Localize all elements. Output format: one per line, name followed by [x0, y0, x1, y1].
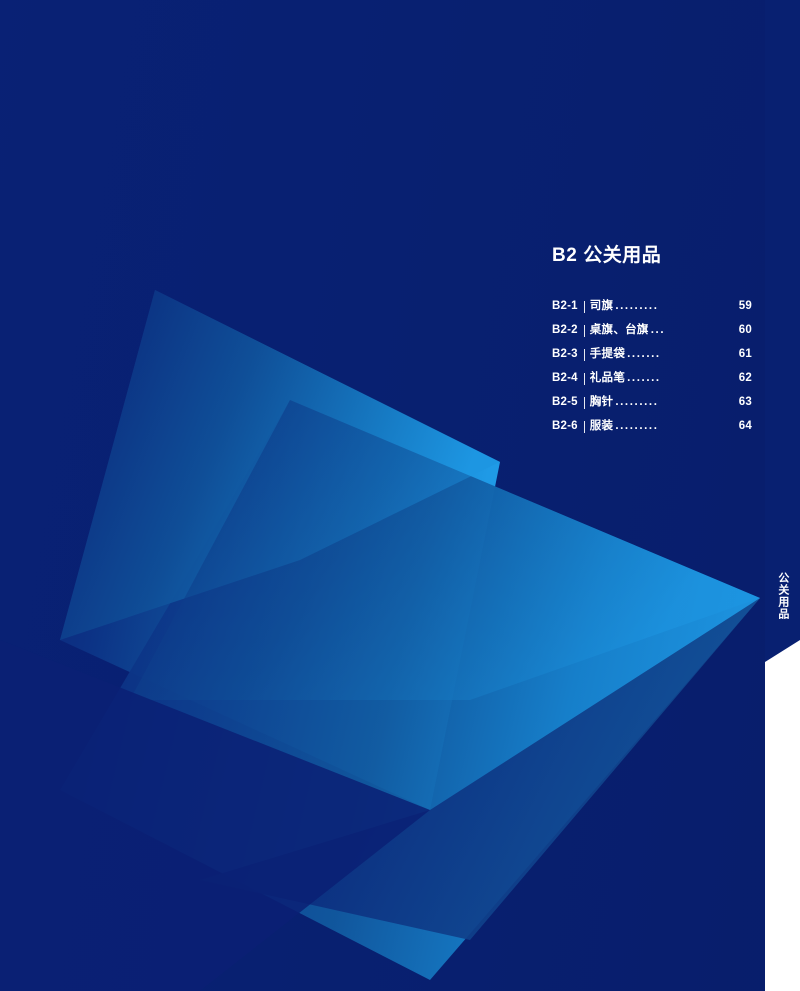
toc-leader-dots: ......... [615, 301, 736, 313]
toc-leader-dots: ......... [615, 397, 736, 409]
toc-leader-dots: ......... [615, 421, 736, 433]
toc-page-number: 62 [739, 373, 752, 385]
page-title-text: 公关用品 [583, 245, 661, 266]
toc-page-number: 63 [739, 397, 752, 409]
toc-page-number: 61 [739, 349, 752, 361]
toc-entry[interactable]: B2-2 桌旗、台旗 ... 60 [552, 325, 752, 337]
toc-code: B2-4 [552, 373, 578, 385]
toc-entry[interactable]: B2-5 胸针 ......... 63 [552, 397, 752, 409]
toc-page-number: 64 [739, 421, 752, 433]
toc-page-number: 60 [739, 325, 752, 337]
toc-title: 胸针 [590, 397, 614, 409]
toc-title: 服装 [590, 421, 614, 433]
chevron-gradient-graphic [0, 0, 800, 991]
toc-entry[interactable]: B2-6 服装 ......... 64 [552, 421, 752, 433]
toc-divider-rule [584, 421, 585, 433]
toc-entry[interactable]: B2-3 手提袋 ....... 61 [552, 349, 752, 361]
table-of-contents: B2-1 司旗 ......... 59 B2-2 桌旗、台旗 ... 60 B… [552, 301, 752, 433]
toc-leader-dots: ... [651, 325, 737, 337]
toc-entry[interactable]: B2-1 司旗 ......... 59 [552, 301, 752, 313]
toc-code: B2-3 [552, 349, 578, 361]
section-index-tab-label: 公关用品 [776, 572, 789, 620]
page-title-code: B2 [552, 245, 577, 266]
toc-code: B2-5 [552, 397, 578, 409]
toc-divider-rule [584, 325, 585, 337]
page-title: B2公关用品 [552, 240, 752, 267]
section-index-tab: 公关用品 [765, 0, 800, 662]
toc-title: 司旗 [590, 301, 614, 313]
toc-entry[interactable]: B2-4 礼品笔 ....... 62 [552, 373, 752, 385]
section-text-block: B2公关用品 B2-1 司旗 ......... 59 B2-2 桌旗、台旗 .… [552, 240, 752, 445]
toc-title: 手提袋 [590, 349, 625, 361]
toc-divider-rule [584, 397, 585, 409]
toc-code: B2-6 [552, 421, 578, 433]
toc-divider-rule [584, 349, 585, 361]
toc-divider-rule [584, 301, 585, 313]
toc-divider-rule [584, 373, 585, 385]
toc-leader-dots: ....... [627, 373, 737, 385]
toc-code: B2-2 [552, 325, 578, 337]
toc-title: 礼品笔 [590, 373, 625, 385]
toc-leader-dots: ....... [627, 349, 737, 361]
tab-corner-notch [765, 640, 800, 662]
toc-page-number: 59 [739, 301, 752, 313]
toc-code: B2-1 [552, 301, 578, 313]
toc-title: 桌旗、台旗 [590, 325, 649, 337]
section-divider-page: 公关用品 B2公关用品 B2-1 司旗 ......... 59 B2-2 桌旗… [0, 0, 800, 991]
